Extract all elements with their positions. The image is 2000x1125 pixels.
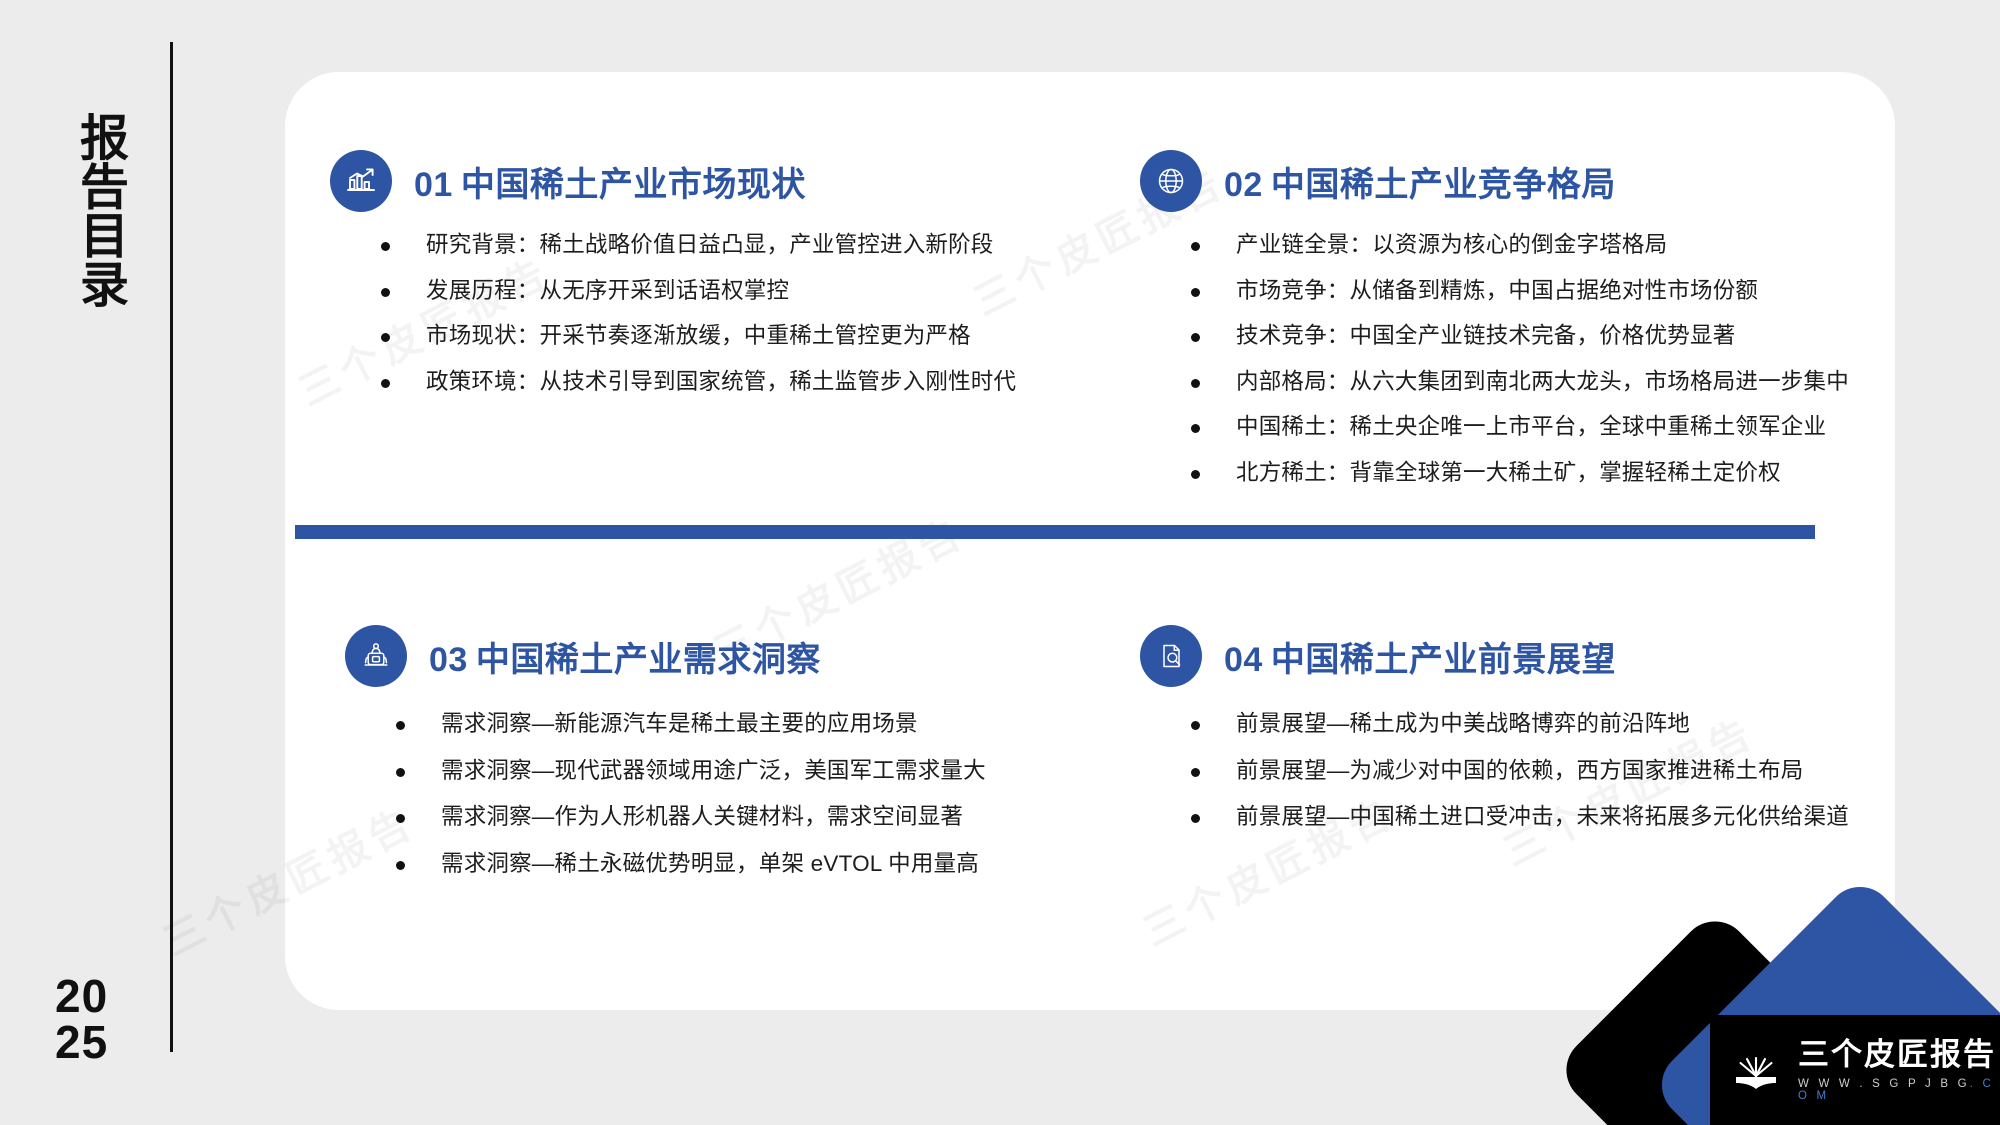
section-title: 02中国稀土产业竞争格局 [1224,157,1616,206]
list-item: 研究背景：稀土战略价值日益凸显，产业管控进入新阶段 [426,234,1016,257]
toc-section-01[interactable]: 01中国稀土产业市场现状 研究背景：稀土战略价值日益凸显，产业管控进入新阶段 发… [330,150,1016,416]
section-bullet-list: 前景展望—稀土成为中美战略博弈的前沿阵地 前景展望—为减少对中国的依赖，西方国家… [1140,713,1849,829]
open-book-icon [1728,1042,1784,1098]
list-item: 技术竞争：中国全产业链技术完备，价格优势显著 [1236,325,1849,348]
section-title-text: 中国稀土产业前景展望 [1271,641,1616,679]
section-divider-bar [295,525,1815,539]
list-item: 市场竞争：从储备到精炼，中国占据绝对性市场份额 [1236,280,1849,303]
bar-chart-growth-icon [330,150,392,212]
section-title-text: 中国稀土产业竞争格局 [1271,166,1616,204]
section-bullet-list: 需求洞察—新能源汽车是稀土最主要的应用场景 需求洞察—现代武器领域用途广泛，美国… [345,713,986,875]
section-number: 04 [1224,641,1263,679]
list-item: 政策环境：从技术引导到国家统管，稀土监管步入刚性时代 [426,371,1016,394]
list-item: 市场现状：开采节奏逐渐放缓，中重稀土管控更为严格 [426,325,1016,348]
list-item: 前景展望—中国稀土进口受冲击，未来将拓展多元化供给渠道 [1236,806,1849,829]
section-number: 01 [414,166,453,204]
logo-url-main: W W W . S G P J B G [1798,1078,1970,1090]
section-title: 01中国稀土产业市场现状 [414,157,806,206]
list-item: 北方稀土：背靠全球第一大稀土矿，掌握轻稀土定价权 [1236,462,1849,485]
section-number: 02 [1224,166,1263,204]
list-item: 发展历程：从无序开采到话语权掌控 [426,280,1016,303]
section-header: 03中国稀土产业需求洞察 [345,625,986,687]
section-number: 03 [429,641,468,679]
document-search-icon [1140,625,1202,687]
list-item: 中国稀土：稀土央企唯一上市平台，全球中重稀土领军企业 [1236,416,1849,439]
list-item: 产业链全景：以资源为核心的倒金字塔格局 [1236,234,1849,257]
section-title: 04中国稀土产业前景展望 [1224,632,1616,681]
section-title-text: 中国稀土产业市场现状 [461,166,806,204]
backpack-icon [345,625,407,687]
logo-badge[interactable]: 三个皮匠报告 W W W . S G P J B G. C O M [1710,1015,2000,1125]
list-item: 前景展望—稀土成为中美战略博弈的前沿阵地 [1236,713,1849,736]
page-title: 报告目录 [42,60,128,360]
toc-section-04[interactable]: 04中国稀土产业前景展望 前景展望—稀土成为中美战略博弈的前沿阵地 前景展望—为… [1140,625,1849,853]
list-item: 前景展望—为减少对中国的依赖，西方国家推进稀土布局 [1236,760,1849,783]
logo-url: W W W . S G P J B G. C O M [1798,1078,2000,1102]
section-title-text: 中国稀土产业需求洞察 [476,641,821,679]
list-item: 内部格局：从六大集团到南北两大龙头，市场格局进一步集中 [1236,371,1849,394]
list-item: 需求洞察—现代武器领域用途广泛，美国军工需求量大 [441,760,986,783]
toc-section-03[interactable]: 03中国稀土产业需求洞察 需求洞察—新能源汽车是稀土最主要的应用场景 需求洞察—… [345,625,986,899]
globe-icon [1140,150,1202,212]
section-header: 01中国稀土产业市场现状 [330,150,1016,212]
year-top: 20 [55,973,108,1019]
section-header: 02中国稀土产业竞争格局 [1140,150,1849,212]
logo-name: 三个皮匠报告 [1798,1038,2000,1072]
logo-text: 三个皮匠报告 W W W . S G P J B G. C O M [1798,1038,2000,1101]
slide-root: 报告目录 20 25 三个皮匠报告 三个皮匠报告 三个皮匠报告 三个皮匠报告 三… [0,0,2000,1125]
section-bullet-list: 产业链全景：以资源为核心的倒金字塔格局 市场竞争：从储备到精炼，中国占据绝对性市… [1140,234,1849,484]
year-label: 20 25 [55,973,108,1065]
year-bottom: 25 [55,1019,108,1065]
toc-section-02[interactable]: 02中国稀土产业竞争格局 产业链全景：以资源为核心的倒金字塔格局 市场竞争：从储… [1140,150,1849,507]
vertical-divider [170,42,173,1052]
section-bullet-list: 研究背景：稀土战略价值日益凸显，产业管控进入新阶段 发展历程：从无序开采到话语权… [330,234,1016,393]
list-item: 需求洞察—作为人形机器人关键材料，需求空间显著 [441,806,986,829]
left-rail: 报告目录 20 25 [0,0,172,1125]
section-title: 03中国稀土产业需求洞察 [429,632,821,681]
list-item: 需求洞察—新能源汽车是稀土最主要的应用场景 [441,713,986,736]
section-header: 04中国稀土产业前景展望 [1140,625,1849,687]
list-item: 需求洞察—稀土永磁优势明显，单架 eVTOL 中用量高 [441,853,986,876]
